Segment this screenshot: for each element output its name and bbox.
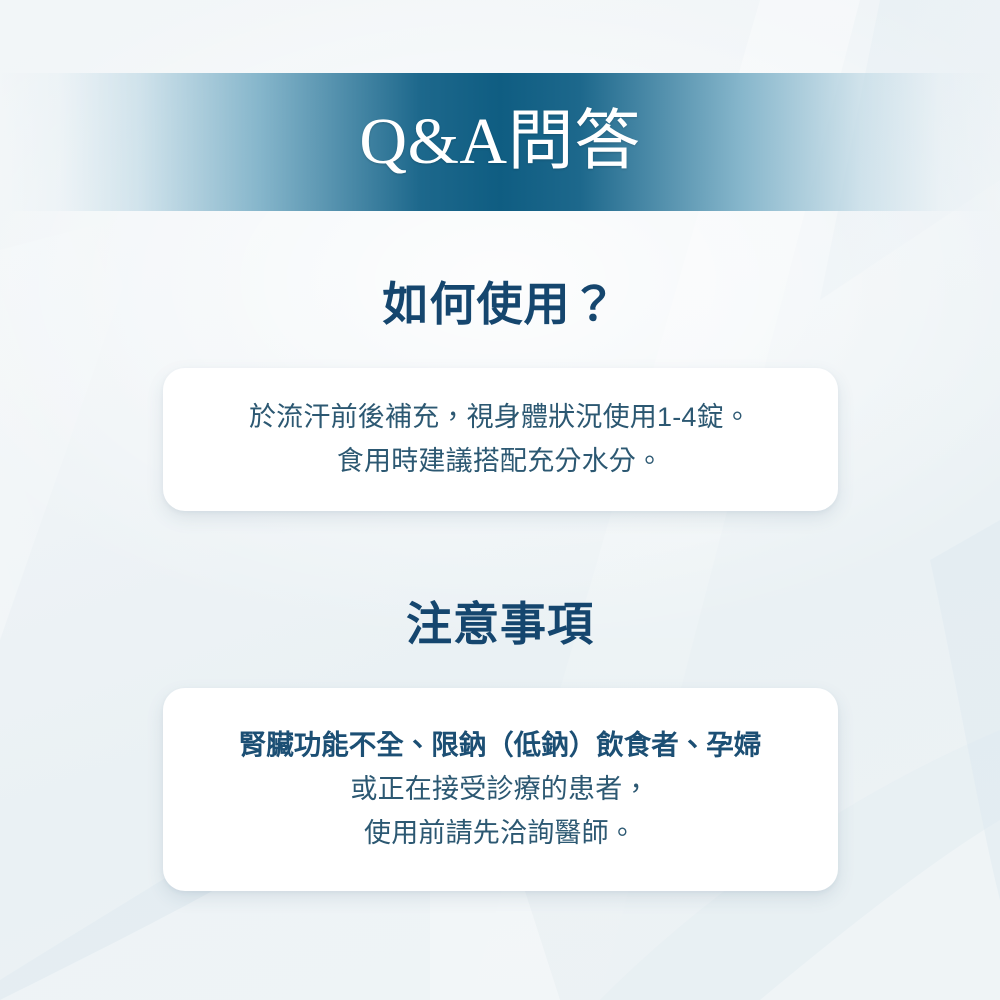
section-heading-usage: 如何使用？ — [0, 279, 1000, 330]
header-banner: Q&A問答 — [0, 73, 1000, 211]
page-title: Q&A問答 — [359, 109, 640, 175]
caution-card: 腎臟功能不全、限鈉（低鈉）飲食者、孕婦 或正在接受診療的患者， 使用前請先洽詢醫… — [163, 688, 838, 891]
usage-card-line-1: 於流汗前後補充，視身體狀況使用1-4錠。 — [249, 395, 751, 439]
caution-card-line-1: 腎臟功能不全、限鈉（低鈉）飲食者、孕婦 — [239, 723, 762, 767]
main-content: 如何使用？ 於流汗前後補充，視身體狀況使用1-4錠。 食用時建議搭配充分水分。 … — [0, 211, 1000, 891]
section-heading-caution: 注意事項 — [0, 599, 1000, 650]
usage-card-line-2: 食用時建議搭配充分水分。 — [337, 439, 663, 483]
qa-infographic-page: Q&A問答 如何使用？ 於流汗前後補充，視身體狀況使用1-4錠。 食用時建議搭配… — [0, 0, 1000, 1000]
usage-card: 於流汗前後補充，視身體狀況使用1-4錠。 食用時建議搭配充分水分。 — [163, 368, 838, 511]
caution-card-line-3: 使用前請先洽詢醫師。 — [364, 811, 636, 855]
caution-card-line-2: 或正在接受診療的患者， — [350, 767, 649, 811]
